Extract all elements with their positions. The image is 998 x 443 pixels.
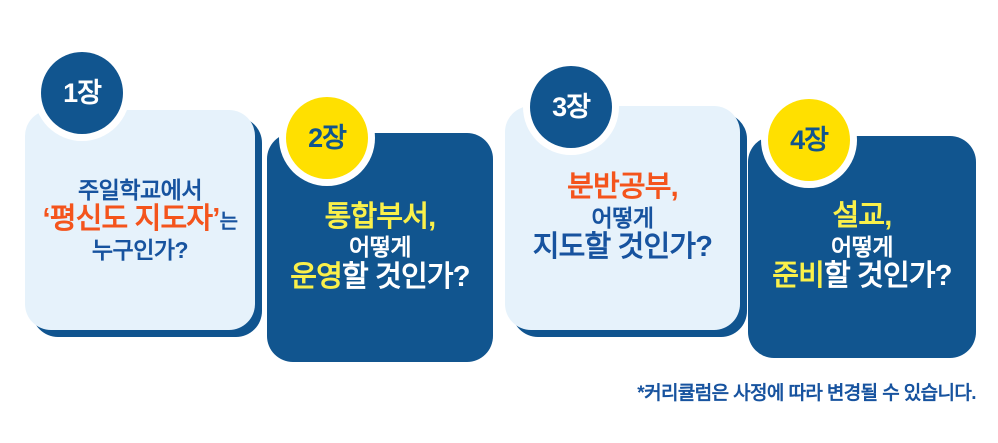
chapter-card-3-line-3: 지도할 것인가?	[533, 231, 712, 265]
chapter-card-3[interactable]: 분반공부,어떻게지도할 것인가?	[505, 106, 740, 330]
chapter-card-1[interactable]: 주일학교에서‘평신도 지도자’는누구인가?	[25, 110, 255, 330]
text-segment: 할 것인가?	[342, 261, 470, 293]
chapter-card-4-line-3: 준비할 것인가?	[772, 260, 951, 294]
chapter-card-2-line-1: 통합부서,	[290, 201, 469, 235]
text-segment: 주일학교에서	[78, 177, 202, 203]
chapter-card-2-line-3: 운영할 것인가?	[290, 261, 469, 295]
text-segment: 는	[220, 211, 238, 233]
chapter-card-4-text: 설교,어떻게준비할 것인가?	[762, 200, 961, 294]
chapter-card-2-line-2: 어떻게	[290, 234, 469, 261]
chapter-badge-1[interactable]: 1장	[41, 52, 123, 134]
text-segment: 분반공부,	[567, 171, 678, 203]
curriculum-chapter-cards: 주일학교에서‘평신도 지도자’는누구인가? 1장 통합부서,어떻게운영할 것인가…	[0, 0, 998, 443]
chapter-badge-2-label: 2장	[308, 125, 346, 152]
chapter-badge-3[interactable]: 3장	[530, 66, 612, 148]
chapter-card-3-text: 분반공부,어떻게지도할 것인가?	[523, 171, 722, 265]
chapter-card-4-line-1: 설교,	[772, 200, 951, 234]
text-segment: 운영	[290, 261, 342, 293]
chapter-badge-1-label: 1장	[63, 80, 101, 107]
text-segment: 설교,	[832, 200, 891, 232]
chapter-card-1-text: 주일학교에서‘평신도 지도자’는누구인가?	[33, 177, 248, 264]
chapter-badge-4-label: 4장	[790, 127, 828, 154]
text-segment: 어떻게	[592, 205, 654, 231]
text-segment: 어떻게	[349, 234, 411, 260]
chapter-card-1-line-2: ‘평신도 지도자’는	[43, 203, 238, 237]
chapter-card-2-text: 통합부서,어떻게운영할 것인가?	[280, 201, 479, 295]
chapter-card-1-line-3: 누구인가?	[43, 237, 238, 264]
text-segment: ‘평신도 지도자’	[43, 203, 220, 235]
curriculum-disclaimer: *커리큘럼은 사정에 따라 변경될 수 있습니다.	[637, 378, 976, 405]
text-segment: 준비	[772, 260, 824, 292]
chapter-badge-4[interactable]: 4장	[768, 99, 850, 181]
chapter-card-3-line-2: 어떻게	[533, 205, 712, 232]
text-segment: 어떻게	[831, 234, 893, 260]
chapter-badge-2[interactable]: 2장	[286, 97, 368, 179]
text-segment: 누구인가?	[92, 237, 188, 263]
text-segment: 지도할 것인가?	[533, 231, 712, 263]
text-segment: 통합부서,	[325, 201, 436, 233]
chapter-card-1-line-1: 주일학교에서	[43, 177, 238, 204]
chapter-badge-3-label: 3장	[552, 94, 590, 121]
text-segment: 할 것인가?	[824, 260, 952, 292]
chapter-card-4-line-2: 어떻게	[772, 234, 951, 261]
chapter-card-3-line-1: 분반공부,	[533, 171, 712, 205]
